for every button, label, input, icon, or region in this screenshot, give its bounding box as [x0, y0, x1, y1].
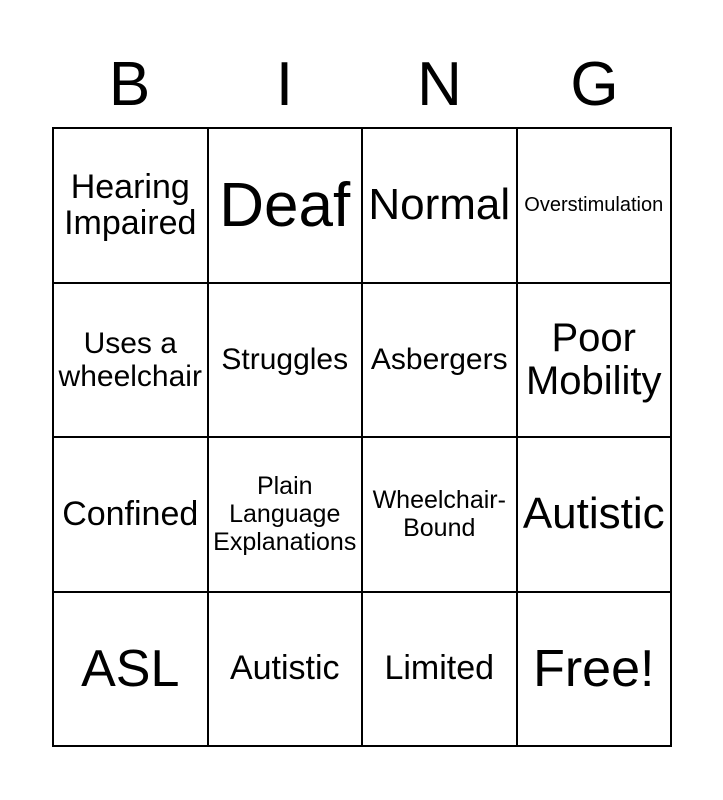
- bingo-cell-label: Confined: [58, 496, 203, 533]
- bingo-cell[interactable]: Struggles: [209, 284, 364, 439]
- bingo-header: B I N G: [52, 44, 672, 126]
- bingo-cell-label: Plain Language Explanations: [213, 472, 358, 556]
- bingo-cell-label: Wheelchair-Bound: [367, 486, 512, 542]
- bingo-card: B I N G Hearing Impaired Deaf Normal Ove…: [0, 0, 723, 800]
- bingo-cell[interactable]: Normal: [363, 129, 518, 284]
- bingo-cell-label: Deaf: [213, 174, 358, 237]
- header-letter-g: G: [517, 54, 672, 116]
- bingo-cell-label: Uses a wheelchair: [58, 327, 203, 393]
- bingo-cell[interactable]: Asbergers: [363, 284, 518, 439]
- bingo-cell[interactable]: Uses a wheelchair: [54, 284, 209, 439]
- bingo-cell-label: Limited: [367, 650, 512, 687]
- bingo-cell-label: Normal: [367, 182, 512, 228]
- bingo-grid: Hearing Impaired Deaf Normal Overstimula…: [52, 127, 672, 747]
- bingo-cell[interactable]: Plain Language Explanations: [209, 438, 364, 593]
- bingo-cell-label: Poor Mobility: [522, 317, 667, 402]
- bingo-cell[interactable]: Hearing Impaired: [54, 129, 209, 284]
- bingo-cell-label: Overstimulation: [522, 194, 667, 217]
- bingo-cell-label: Autistic: [522, 491, 667, 537]
- bingo-cell[interactable]: Limited: [363, 593, 518, 748]
- bingo-cell-label: Autistic: [213, 650, 358, 687]
- bingo-cell-label: Free!: [522, 642, 667, 696]
- bingo-cell[interactable]: Poor Mobility: [518, 284, 673, 439]
- bingo-cell[interactable]: Wheelchair-Bound: [363, 438, 518, 593]
- bingo-cell[interactable]: Deaf: [209, 129, 364, 284]
- header-letter-n: N: [362, 54, 517, 116]
- bingo-free-space[interactable]: Free!: [518, 593, 673, 748]
- bingo-cell-label: Asbergers: [367, 343, 512, 376]
- bingo-cell-label: Struggles: [213, 343, 358, 376]
- bingo-cell-label: ASL: [58, 642, 203, 696]
- bingo-cell[interactable]: Confined: [54, 438, 209, 593]
- header-letter-i: I: [207, 54, 362, 116]
- bingo-cell[interactable]: Autistic: [209, 593, 364, 748]
- bingo-cell[interactable]: ASL: [54, 593, 209, 748]
- bingo-cell[interactable]: Autistic: [518, 438, 673, 593]
- bingo-cell[interactable]: Overstimulation: [518, 129, 673, 284]
- header-letter-b: B: [52, 54, 207, 116]
- bingo-cell-label: Hearing Impaired: [58, 169, 203, 242]
